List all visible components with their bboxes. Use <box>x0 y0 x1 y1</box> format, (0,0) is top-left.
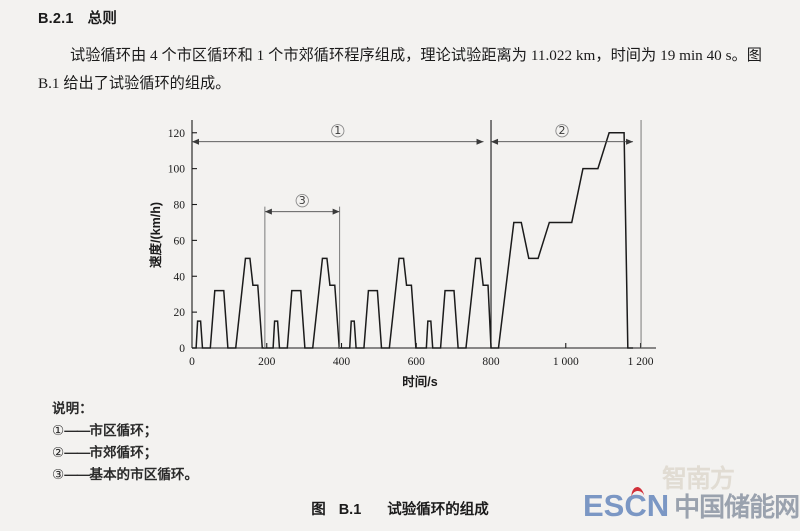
figure-legend: 说明： ①——市区循环； ②——市郊循环； ③——基本的市区循环。 <box>52 398 198 486</box>
svg-text:60: 60 <box>174 235 186 247</box>
legend-marker-3: ③ <box>52 467 64 483</box>
caption-prefix: 图 <box>311 502 326 518</box>
legend-dash-2: —— <box>64 445 89 460</box>
caption-number: B.1 <box>339 502 362 518</box>
paragraph-text: 试验循环由 4 个市区循环和 1 个市郊循环程序组成，理论试验距离为 11.02… <box>38 47 762 92</box>
section-title: 总则 <box>88 11 117 27</box>
legend-marker-2: ② <box>52 445 64 461</box>
svg-text:时间/s: 时间/s <box>402 374 437 389</box>
watermark-brand: ESCN <box>583 488 669 524</box>
watermark-brand-cn: 中国储能网 <box>674 487 799 524</box>
svg-text:1 000: 1 000 <box>553 356 579 368</box>
svg-text:0: 0 <box>179 343 185 355</box>
legend-item-basic-urban: ③——基本的市区循环。 <box>52 464 198 486</box>
legend-label-1: 市区循环； <box>89 423 157 438</box>
section-number: B.2.1 <box>38 11 74 27</box>
legend-dash-1: —— <box>64 423 89 438</box>
section-heading: B.2.1总则 <box>38 7 117 28</box>
svg-text:3: 3 <box>299 194 306 207</box>
legend-dash-3: —— <box>64 467 89 482</box>
svg-text:600: 600 <box>408 356 426 368</box>
legend-marker-1: ① <box>52 423 64 439</box>
svg-text:2: 2 <box>559 124 566 137</box>
legend-heading: 说明： <box>52 398 198 420</box>
caption-title: 试验循环的组成 <box>387 502 489 518</box>
svg-text:800: 800 <box>482 356 500 368</box>
driving-cycle-chart: 02040608010012002004006008001 0001 200时间… <box>140 108 660 393</box>
body-paragraph: 试验循环由 4 个市区循环和 1 个市郊循环程序组成，理论试验距离为 11.02… <box>38 42 762 98</box>
chart-plot-area: 02040608010012002004006008001 0001 200时间… <box>140 108 660 393</box>
watermark: ESCN 中国储能网 <box>583 487 799 524</box>
svg-text:200: 200 <box>258 356 276 368</box>
svg-text:100: 100 <box>168 164 186 176</box>
svg-text:120: 120 <box>168 128 186 140</box>
svg-text:400: 400 <box>333 356 351 368</box>
legend-item-extra-urban: ②——市郊循环； <box>52 442 198 464</box>
document-page: B.2.1总则 试验循环由 4 个市区循环和 1 个市郊循环程序组成，理论试验距… <box>0 0 800 531</box>
svg-text:20: 20 <box>174 307 186 319</box>
svg-text:80: 80 <box>174 200 186 212</box>
svg-text:1: 1 <box>334 124 341 137</box>
legend-item-urban: ①——市区循环； <box>52 420 198 442</box>
svg-text:0: 0 <box>189 356 195 368</box>
figure-b1: 02040608010012002004006008001 0001 200时间… <box>0 108 800 393</box>
svg-text:1 200: 1 200 <box>628 356 654 368</box>
svg-text:速度/(km/h): 速度/(km/h) <box>148 202 163 268</box>
watermark-brand-text: ESCN <box>583 488 669 523</box>
legend-label-3: 基本的市区循环。 <box>89 467 198 482</box>
svg-text:40: 40 <box>174 271 186 283</box>
legend-label-2: 市郊循环； <box>89 445 157 460</box>
